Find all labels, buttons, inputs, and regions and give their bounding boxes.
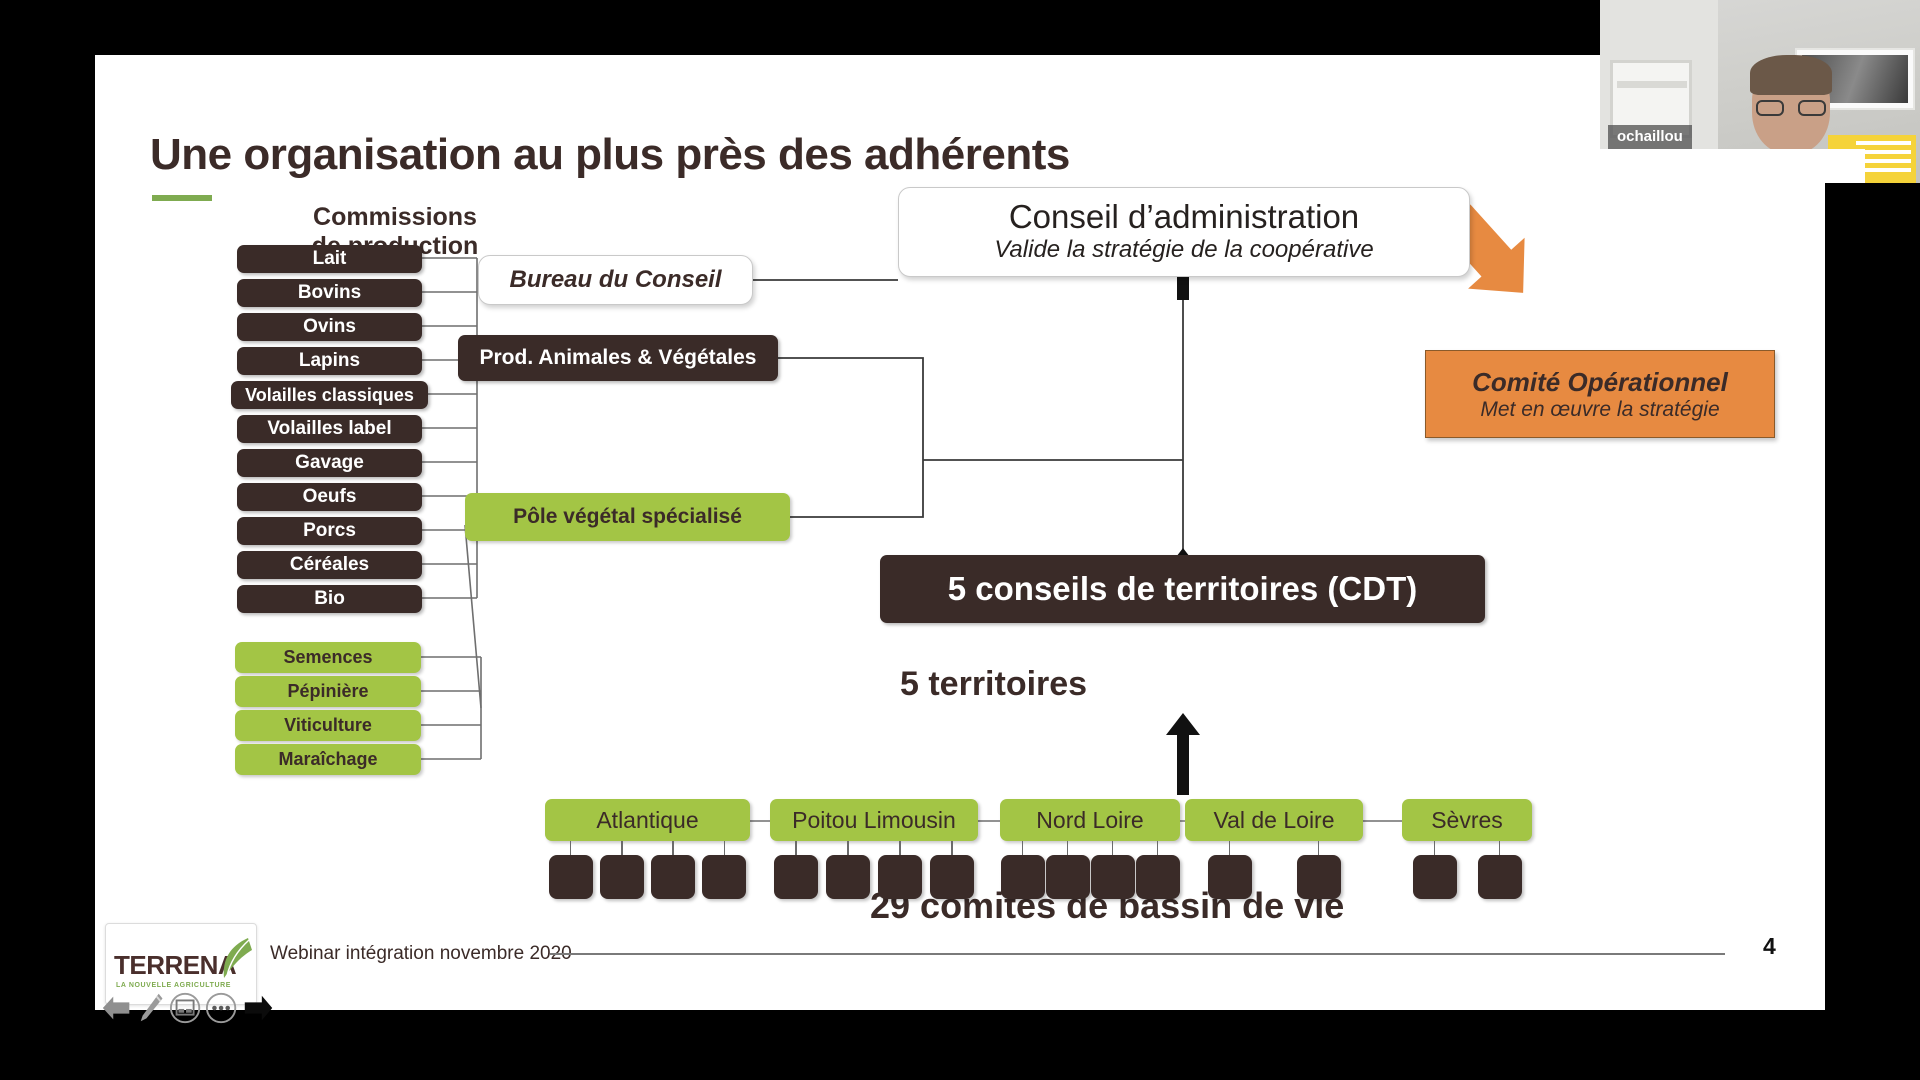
commission-item[interactable]: Céréales xyxy=(237,551,422,579)
territory-box[interactable]: Atlantique xyxy=(545,799,750,841)
commission-item[interactable]: Oeufs xyxy=(237,483,422,511)
commission-item[interactable]: Gavage xyxy=(237,449,422,477)
commissions-heading-line1: Commissions xyxy=(313,203,477,231)
commission-item[interactable]: Porcs xyxy=(237,517,422,545)
cam-person-glasses xyxy=(1756,100,1826,116)
commission-item[interactable]: Bovins xyxy=(237,279,422,307)
footer-text: Webinar intégration novembre 2020 xyxy=(270,943,572,965)
green-production-item[interactable]: Viticulture xyxy=(235,710,421,741)
basin-committee-box[interactable] xyxy=(930,855,974,899)
basin-committee-box[interactable] xyxy=(1413,855,1457,899)
node-conseils-territoires[interactable]: 5 conseils de territoires (CDT) xyxy=(880,555,1485,623)
label-5-territoires: 5 territoires xyxy=(900,665,1087,704)
basin-committee-box[interactable] xyxy=(1208,855,1252,899)
back-arrow-icon[interactable] xyxy=(100,993,132,1023)
territory-box[interactable]: Nord Loire xyxy=(1000,799,1180,841)
commission-item[interactable]: Volailles label xyxy=(237,415,422,443)
green-production-item[interactable]: Semences xyxy=(235,642,421,673)
pen-icon[interactable] xyxy=(136,991,164,1025)
green-production-item[interactable]: Maraîchage xyxy=(235,744,421,775)
conseil-subtitle: Valide la stratégie de la coopérative xyxy=(994,236,1373,264)
commission-item-label: Bovins xyxy=(298,282,361,304)
basin-committee-box[interactable] xyxy=(878,855,922,899)
page-number: 4 xyxy=(1763,933,1776,960)
basin-committee-box[interactable] xyxy=(600,855,644,899)
basin-committee-box[interactable] xyxy=(1046,855,1090,899)
node-comite-operationnel[interactable]: Comité Opérationnel Met en œuvre la stra… xyxy=(1425,350,1775,438)
green-production-item-label: Maraîchage xyxy=(278,749,377,770)
territory-label: Sèvres xyxy=(1431,807,1503,834)
commission-item-label: Gavage xyxy=(295,452,364,474)
comite-title: Comité Opérationnel xyxy=(1472,367,1728,398)
commission-item[interactable]: Ovins xyxy=(237,313,422,341)
webcam-overlay[interactable]: ochaillou xyxy=(1600,0,1920,183)
presenter-toolbar[interactable] xyxy=(100,985,275,1030)
commission-item[interactable]: Lapins xyxy=(237,347,422,375)
territory-box[interactable]: Poitou Limousin xyxy=(770,799,978,841)
territory-label: Atlantique xyxy=(596,807,698,834)
commission-item[interactable]: Lait xyxy=(237,245,422,273)
basin-committee-box[interactable] xyxy=(826,855,870,899)
basin-committee-box[interactable] xyxy=(1136,855,1180,899)
node-conseil-administration[interactable]: Conseil d’administration Valide la strat… xyxy=(898,187,1470,277)
commission-item-label: Céréales xyxy=(290,554,369,576)
logo-leaf-icon xyxy=(218,936,254,980)
more-options-icon[interactable] xyxy=(205,991,237,1025)
basin-committee-box[interactable] xyxy=(774,855,818,899)
basin-committee-box[interactable] xyxy=(1091,855,1135,899)
commission-item-label: Volailles classiques xyxy=(245,385,414,406)
whiteboard-icon[interactable] xyxy=(169,991,201,1025)
commission-item-label: Bio xyxy=(314,588,345,610)
participant-name-label: ochaillou xyxy=(1608,125,1692,149)
commission-item-label: Ovins xyxy=(303,316,356,338)
green-production-item-label: Semences xyxy=(283,647,372,668)
commission-item[interactable]: Volailles classiques xyxy=(231,381,428,409)
green-production-item[interactable]: Pépinière xyxy=(235,676,421,707)
basin-committee-box[interactable] xyxy=(549,855,593,899)
basin-committee-box[interactable] xyxy=(1478,855,1522,899)
territory-label: Val de Loire xyxy=(1213,807,1334,834)
green-production-item-label: Pépinière xyxy=(287,681,368,702)
commission-item-label: Porcs xyxy=(303,520,356,542)
node-bureau-du-conseil[interactable]: Bureau du Conseil xyxy=(478,255,753,305)
commission-item[interactable]: Bio xyxy=(237,585,422,613)
territory-box[interactable]: Val de Loire xyxy=(1185,799,1363,841)
commission-item-label: Oeufs xyxy=(303,486,357,508)
cam-person-hair xyxy=(1750,55,1832,95)
conseil-title: Conseil d’administration xyxy=(1009,200,1359,235)
green-production-item-label: Viticulture xyxy=(284,715,372,736)
node-pole-vegetal[interactable]: Pôle végétal spécialisé xyxy=(465,493,790,541)
node-prod-animales-vegetales[interactable]: Prod. Animales & Végétales xyxy=(458,335,778,381)
territory-box[interactable]: Sèvres xyxy=(1402,799,1532,841)
cursor-arrow-icon[interactable] xyxy=(241,992,275,1024)
basin-committee-box[interactable] xyxy=(651,855,695,899)
commission-item-label: Lapins xyxy=(299,350,360,372)
presentation-slide: Une organisation au plus près des adhére… xyxy=(95,55,1825,1010)
basin-committee-box[interactable] xyxy=(702,855,746,899)
basin-committee-box[interactable] xyxy=(1001,855,1045,899)
territory-label: Poitou Limousin xyxy=(792,807,956,834)
comite-subtitle: Met en œuvre la stratégie xyxy=(1480,398,1719,422)
territory-label: Nord Loire xyxy=(1036,807,1143,834)
screen: Une organisation au plus près des adhére… xyxy=(0,0,1920,1080)
footer-divider xyxy=(550,953,1725,955)
commission-item-label: Volailles label xyxy=(267,418,391,440)
cam-bottom-strip xyxy=(1600,149,1865,183)
basin-committee-box[interactable] xyxy=(1297,855,1341,899)
commission-item-label: Lait xyxy=(313,248,347,270)
